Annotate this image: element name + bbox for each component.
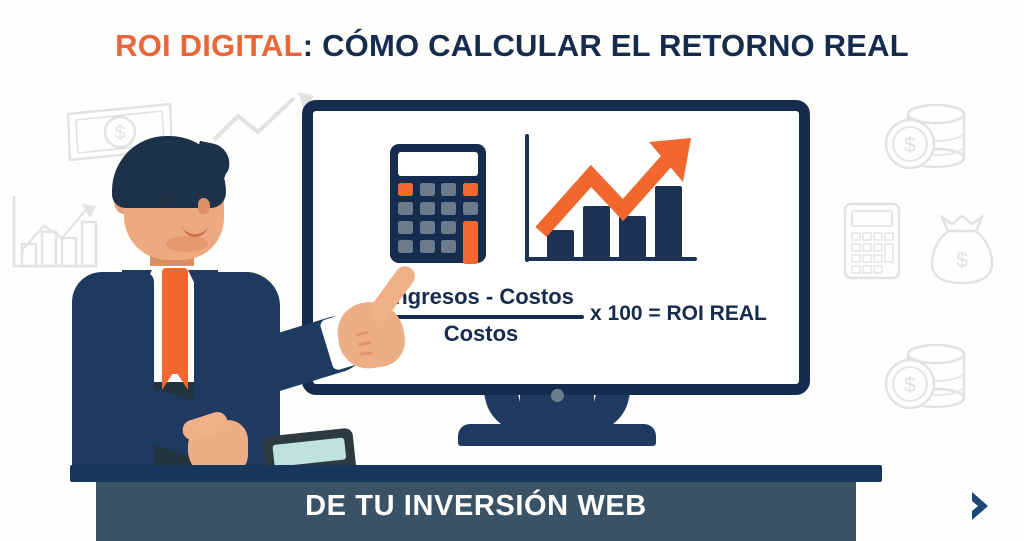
title-rest: CÓMO CALCULAR EL RETORNO REAL	[313, 28, 909, 63]
calculator-key	[441, 221, 456, 234]
calculator-key	[420, 202, 435, 215]
formula-result: x 100 = ROI REAL	[590, 302, 767, 326]
coin-stack-icon: $	[872, 100, 972, 180]
calculator-key	[398, 240, 413, 253]
bottom-banner-text: DE TU INVERSIÓN WEB	[96, 490, 856, 523]
roi-formula: Ingresos - Costos Costos x 100 = ROI REA…	[378, 284, 798, 356]
jacket-lapel-left	[122, 270, 152, 332]
calculator-key	[398, 202, 413, 215]
desk-top	[70, 465, 882, 482]
calculator-key	[420, 221, 435, 234]
money-bag-icon: $	[928, 215, 996, 287]
formula-fraction-bar	[378, 315, 584, 319]
svg-text:$: $	[904, 374, 916, 397]
title-highlight: ROI DIGITAL	[115, 28, 303, 63]
formula-denominator: Costos	[378, 321, 584, 347]
eyebrow-right	[190, 182, 207, 186]
infographic-canvas: $ $	[0, 0, 1024, 541]
nose	[198, 198, 210, 214]
tie	[162, 272, 188, 374]
title-colon: :	[303, 28, 314, 63]
calculator-key	[420, 183, 435, 196]
calculator-outline-icon	[843, 202, 901, 280]
jacket-lapel-right	[188, 270, 218, 332]
eye-left	[162, 194, 170, 204]
calculator-enter-key	[463, 221, 478, 264]
chevron-right-icon[interactable]	[967, 489, 993, 523]
chart-y-axis	[525, 134, 529, 262]
calculator-key	[398, 183, 413, 196]
chart-trend-arrow-icon	[531, 132, 707, 262]
calculator-key	[398, 221, 413, 234]
formula-numerator: Ingresos - Costos	[378, 284, 584, 310]
calculator-key	[441, 202, 456, 215]
eyebrow-left	[158, 184, 175, 188]
coin-stack-icon: $	[872, 340, 972, 420]
businessman-illustration	[70, 120, 340, 470]
calculator-key	[420, 240, 435, 253]
next-slide-button[interactable]	[950, 478, 1010, 534]
monitor-power-indicator	[551, 389, 564, 402]
tie-tip	[162, 370, 188, 390]
hair-tuft	[193, 141, 233, 181]
svg-text:$: $	[904, 134, 916, 157]
calculator-key	[463, 202, 478, 215]
page-title: ROI DIGITAL: CÓMO CALCULAR EL RETORNO RE…	[0, 28, 1024, 64]
growth-chart-icon	[525, 130, 705, 265]
calculator-key	[463, 183, 478, 196]
calculator-keypad	[398, 183, 478, 255]
calculator-display	[398, 152, 478, 176]
chin-shadow	[166, 236, 208, 252]
calculator-icon	[390, 144, 486, 263]
calculator-key	[441, 183, 456, 196]
svg-text:$: $	[956, 249, 968, 272]
handheld-calculator-display	[272, 437, 346, 466]
calculator-key	[441, 240, 456, 253]
